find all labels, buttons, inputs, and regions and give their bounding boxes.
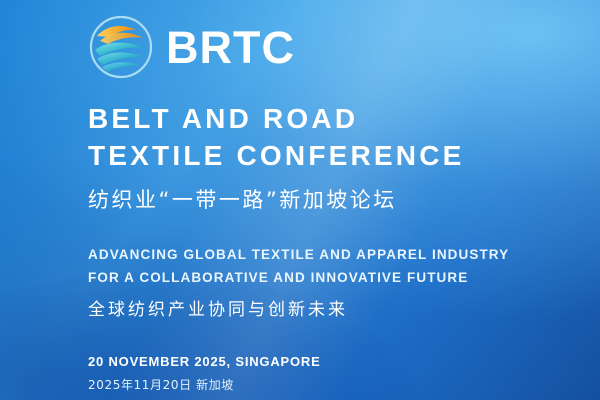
event-date-chinese: 2025年11月20日 新加坡 — [88, 376, 600, 393]
event-date-english: 20 NOVEMBER 2025, SINGAPORE — [88, 354, 600, 369]
subtitle-english-line-1: ADVANCING GLOBAL TEXTILE AND APPAREL IND… — [88, 244, 600, 266]
subtitle-chinese: 全球纺织产业协同与创新未来 — [88, 295, 600, 320]
headline-line-1: BELT AND ROAD — [88, 103, 358, 134]
headline-line-2: TEXTILE CONFERENCE — [88, 137, 600, 174]
brand-name: BRTC — [166, 25, 295, 70]
subtitle-english: ADVANCING GLOBAL TEXTILE AND APPAREL IND… — [88, 244, 600, 289]
conference-poster: BRTC BELT AND ROAD TEXTILE CONFERENCE 纺织… — [0, 0, 600, 400]
poster-content: BRTC BELT AND ROAD TEXTILE CONFERENCE 纺织… — [0, 0, 600, 400]
subtitle-english-line-2: FOR A COLLABORATIVE AND INNOVATIVE FUTUR… — [88, 267, 600, 289]
page-title: BELT AND ROAD TEXTILE CONFERENCE — [88, 100, 600, 174]
brand-lockup: BRTC — [88, 14, 600, 80]
brtc-wave-sun-logo-icon — [88, 14, 154, 80]
title-chinese: 纺织业“一带一路”新加坡论坛 — [88, 184, 600, 214]
